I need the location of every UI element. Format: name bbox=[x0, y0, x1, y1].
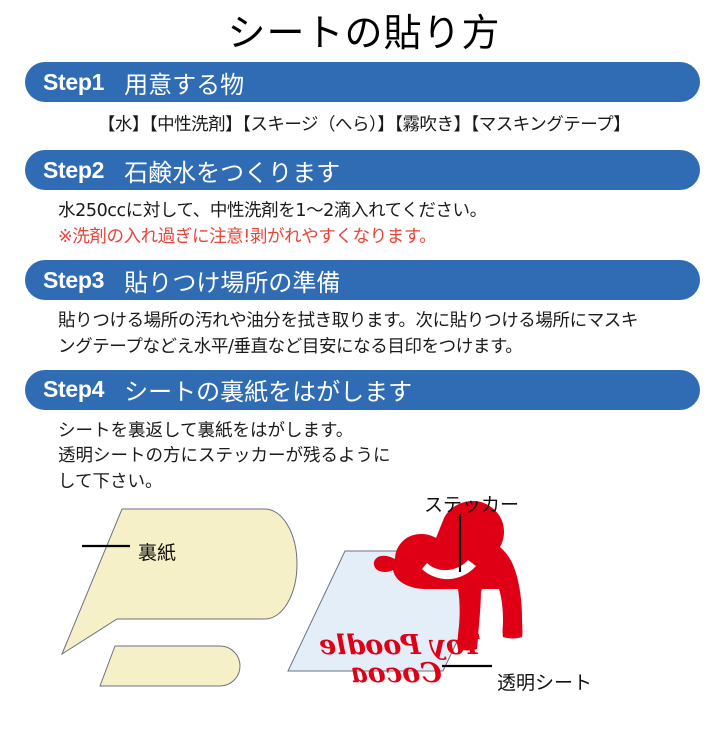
step-bar-1: Step1 用意する物 bbox=[25, 62, 700, 102]
backing-paper-shape bbox=[62, 509, 297, 654]
step-body-1: 【水】【中性洗剤】【スキージ（へら）】【霧吹き】【マスキングテープ】 bbox=[0, 102, 728, 148]
diagram-label-transparent-sheet: 透明シート bbox=[497, 668, 592, 695]
step-body-line: 水250ccに対して、中性洗剤を1〜2滴入れてください。 bbox=[58, 199, 688, 224]
diagram-label-sticker: ステッカー bbox=[424, 490, 519, 517]
peel-diagram-graphic: Toy Poodle Cocoa bbox=[0, 486, 728, 736]
step-number-1: Step1 bbox=[43, 69, 104, 96]
step-warning-line: ※洗剤の入れ過ぎに注意!剥がれやすくなります。 bbox=[58, 225, 688, 250]
sticker-text-group: Toy Poodle Cocoa bbox=[319, 630, 481, 689]
step-block-1: Step1 用意する物 【水】【中性洗剤】【スキージ（へら）】【霧吹き】【マスキ… bbox=[0, 62, 728, 148]
sticker-text-line1: Toy Poodle bbox=[319, 630, 481, 661]
step-heading-1: 用意する物 bbox=[124, 65, 244, 100]
page-title: シートの貼り方 bbox=[0, 0, 728, 62]
step-number-2: Step2 bbox=[43, 157, 104, 184]
step-heading-2: 石鹸水をつくります bbox=[124, 153, 340, 188]
step-bar-2: Step2 石鹸水をつくります bbox=[25, 150, 700, 190]
sticker-text-line2: Cocoa bbox=[350, 658, 441, 689]
step-block-2: Step2 石鹸水をつくります 水250ccに対して、中性洗剤を1〜2滴入れてく… bbox=[0, 150, 728, 258]
backing-paper-flap bbox=[100, 646, 240, 686]
diagram-label-backing-paper: 裏紙 bbox=[138, 538, 176, 565]
step-body-line: 【水】【中性洗剤】【スキージ（へら）】【霧吹き】【マスキングテープ】 bbox=[40, 113, 688, 138]
step-body-2: 水250ccに対して、中性洗剤を1〜2滴入れてください。 ※洗剤の入れ過ぎに注意… bbox=[0, 190, 728, 258]
